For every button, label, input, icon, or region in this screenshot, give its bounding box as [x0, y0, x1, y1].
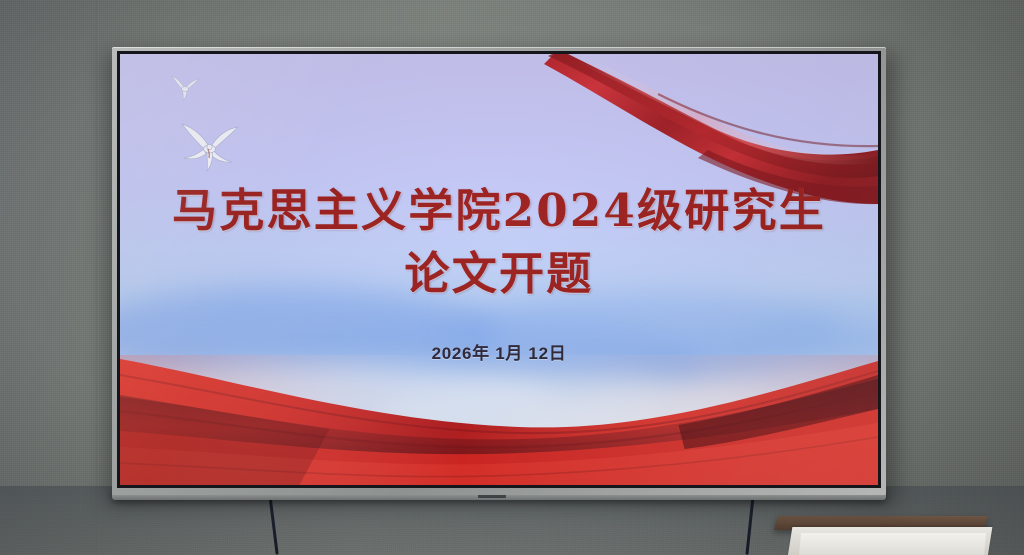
slide-title-line-2: 论文开题 — [120, 245, 878, 304]
papers-stack-top — [799, 533, 986, 555]
room-scene: 马克思主义学院2024级研究生 论文开题 2026年 1月 12日 — [0, 0, 1024, 555]
slide-date: 2026年 1月 12日 — [120, 339, 878, 364]
dove-small-icon — [168, 72, 202, 102]
dove-large-icon — [178, 116, 242, 172]
television[interactable]: 马克思主义学院2024级研究生 论文开题 2026年 1月 12日 — [112, 47, 886, 495]
tv-screen-frame: 马克思主义学院2024级研究生 论文开题 2026年 1月 12日 — [117, 51, 881, 488]
slide-title-line-1: 马克思主义学院2024级研究生 — [120, 182, 878, 241]
slide-text-block: 马克思主义学院2024级研究生 论文开题 2026年 1月 12日 — [120, 182, 878, 364]
cloud-band — [380, 380, 810, 456]
cloud-band — [680, 372, 878, 452]
presentation-slide[interactable]: 马克思主义学院2024级研究生 论文开题 2026年 1月 12日 — [120, 54, 878, 485]
cloud-band — [120, 366, 560, 450]
tv-bezel: 马克思主义学院2024级研究生 论文开题 2026年 1月 12日 — [112, 47, 886, 495]
cloud-band — [500, 406, 860, 476]
